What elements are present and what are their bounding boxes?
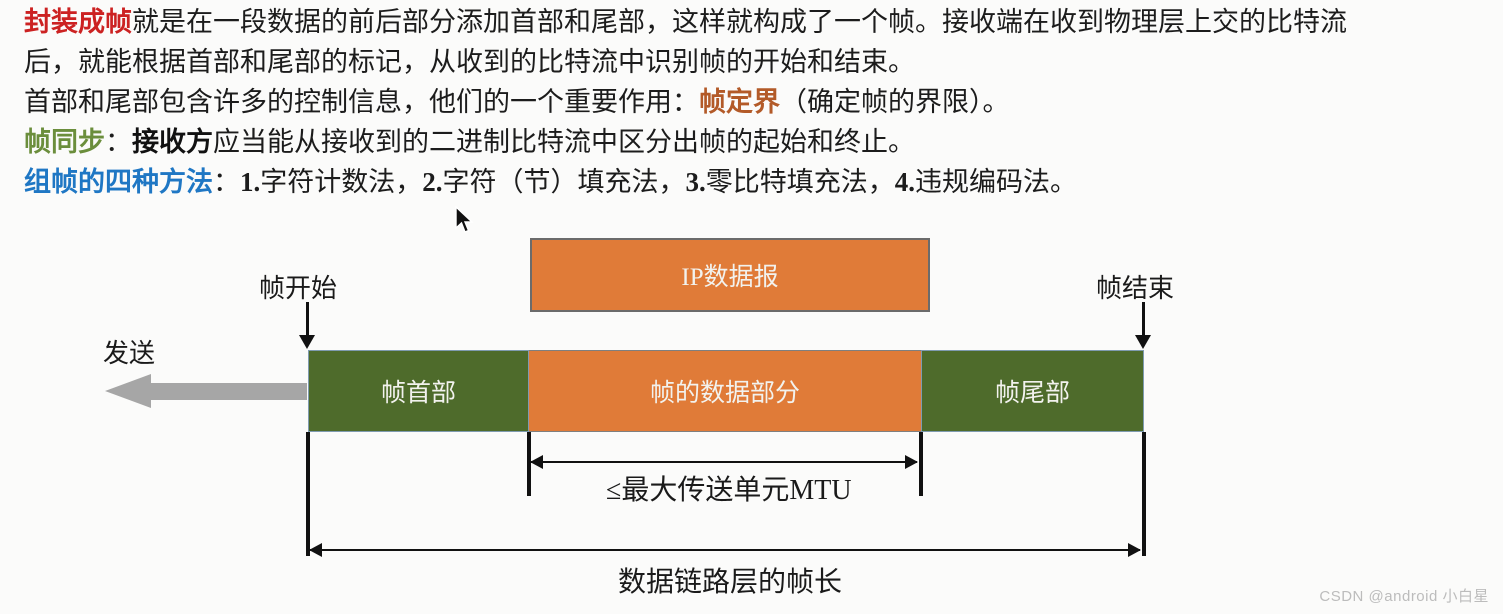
frame-length-measure-arrow-icon	[310, 549, 1140, 551]
mouse-cursor-icon	[455, 206, 477, 236]
frame-data-label: 帧的数据部分	[650, 373, 800, 409]
send-direction-arrow-icon	[105, 374, 307, 408]
frame-encapsulation-diagram: IP数据报 帧首部 帧的数据部分 帧尾部 帧开始 帧结束 发送 ≤最大传送单元M…	[0, 0, 1503, 614]
frame-left-tick	[306, 432, 310, 556]
frame-right-tick	[1142, 432, 1146, 556]
csdn-watermark: CSDN @android 小白星	[1319, 585, 1489, 606]
ip-datagram-label: IP数据报	[681, 257, 778, 293]
frame-data-block: 帧的数据部分	[529, 350, 921, 432]
mtu-right-tick	[919, 432, 923, 496]
frame-start-arrow-icon	[306, 302, 309, 336]
frame-trailer-block: 帧尾部	[921, 350, 1144, 432]
frame-header-label: 帧首部	[381, 373, 456, 409]
frame-header-block: 帧首部	[308, 350, 529, 432]
frame-end-label: 帧结束	[1096, 268, 1174, 305]
frame-start-label: 帧开始	[259, 268, 337, 305]
ip-datagram-block: IP数据报	[530, 238, 930, 312]
frame-end-arrow-icon	[1142, 302, 1145, 336]
mtu-label: ≤最大传送单元MTU	[606, 468, 852, 508]
page-root: 封装成帧就是在一段数据的前后部分添加首部和尾部，这样就构成了一个帧。接收端在收到…	[0, 0, 1503, 614]
frame-length-label: 数据链路层的帧长	[618, 560, 842, 600]
send-direction-label: 发送	[103, 333, 155, 370]
send-arrow-shaft	[147, 383, 307, 400]
mtu-measure-arrow-icon	[531, 461, 917, 463]
send-arrow-head	[105, 374, 151, 408]
frame-trailer-label: 帧尾部	[995, 373, 1070, 409]
